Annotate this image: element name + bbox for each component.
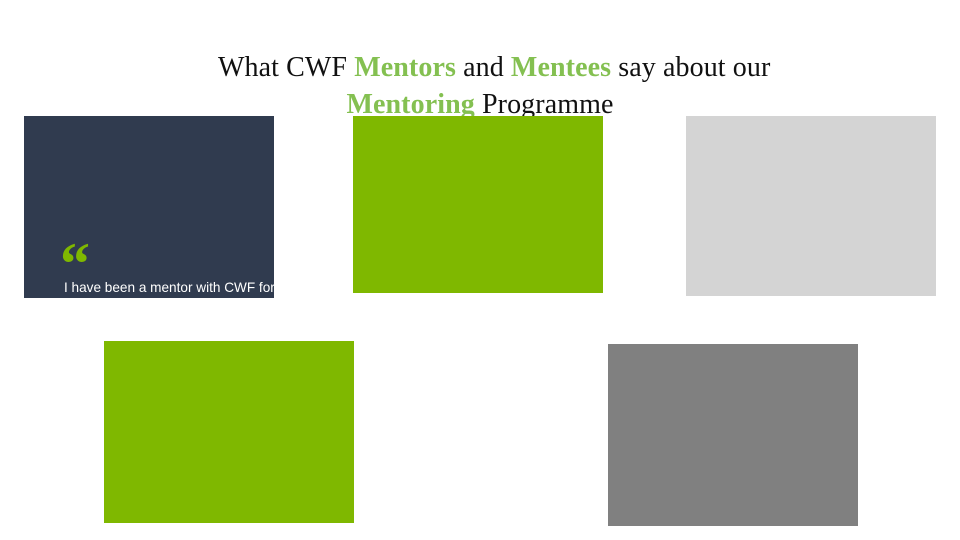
- title-segment-0: What CWF: [218, 52, 354, 83]
- title-segment-3-highlight: Mentees: [511, 52, 611, 83]
- slide-canvas: What CWF Mentors and Mentees say about o…: [0, 0, 960, 540]
- title-segment-2: and: [456, 52, 511, 83]
- testimonial-card: “ As a mentee, I particularly appreciate…: [686, 116, 936, 296]
- testimonial-card: “ I have been a mentor with CWF for 10 y…: [24, 116, 274, 298]
- testimonial-quote: I have been a mentor with CWF for 10 yea…: [64, 278, 274, 298]
- title-segment-4: say about our: [611, 52, 770, 83]
- testimonial-card: “ Being mentoring has been an amazing jo…: [608, 344, 858, 526]
- title-segment-1-highlight: Mentors: [354, 52, 456, 83]
- testimonial-card: “ Mentoring is an authentic way to meet …: [104, 341, 354, 523]
- testimonial-card: “ After being a mentee, I am now mentori…: [353, 116, 603, 293]
